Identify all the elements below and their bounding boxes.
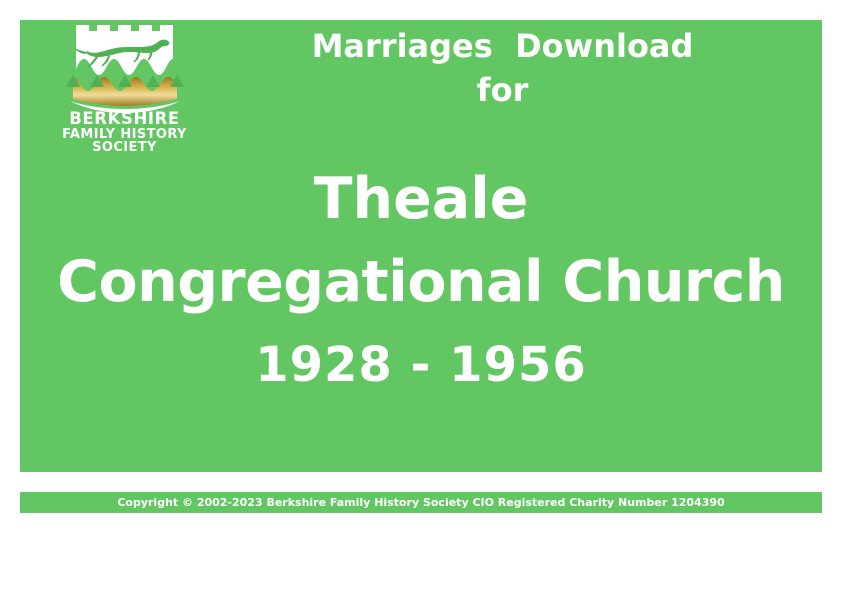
castle-battlement-white-horse-crown-icon xyxy=(64,25,186,113)
page-title-church: Congregational Church xyxy=(20,236,822,328)
download-heading: Marriages Download for xyxy=(195,24,810,112)
logo-wordmark: BERKSHIRE FAMILY HISTORY SOCIETY xyxy=(52,111,197,154)
page-title: Theale Congregational Church 1928 - 1956 xyxy=(20,162,822,402)
berkshire-family-history-society-logo[interactable]: BERKSHIRE FAMILY HISTORY SOCIETY xyxy=(52,25,197,157)
page-root: BERKSHIRE FAMILY HISTORY SOCIETY Marriag… xyxy=(0,0,842,595)
copyright-footer: Copyright © 2002-2023 Berkshire Family H… xyxy=(20,492,822,513)
page-title-place: Theale xyxy=(20,162,822,236)
page-title-date-range: 1928 - 1956 xyxy=(20,328,822,402)
logo-wordmark-line-2: FAMILY HISTORY xyxy=(52,128,197,141)
logo-wordmark-line-1: BERKSHIRE xyxy=(52,111,197,128)
logo-wordmark-line-3: SOCIETY xyxy=(52,141,197,154)
hero-panel: BERKSHIRE FAMILY HISTORY SOCIETY Marriag… xyxy=(20,20,822,472)
